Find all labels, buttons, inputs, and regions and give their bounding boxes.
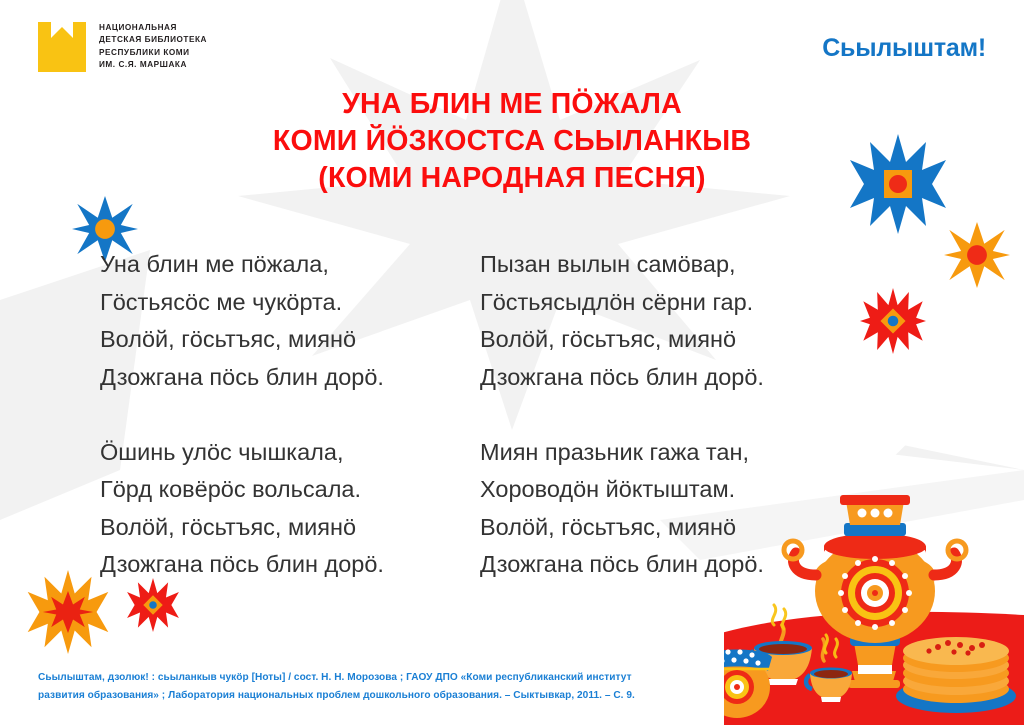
lyric-line: Волӧй, гӧсьтъяс, миянӧ (480, 321, 860, 359)
lyric-line: Дзожгана пӧсь блин дорӧ. (480, 546, 860, 584)
footer-line-1: Сьылыштам, дзолюк! : сьыланкыв чукӧр [Но… (38, 669, 635, 687)
brand-title: Сьылыштам! (822, 34, 986, 63)
footer-line-2: развития образования» ; Лаборатория наци… (38, 687, 635, 705)
tea-cup-large (749, 625, 812, 685)
lyrics-column-right: Пызан вылын самӧвар, Гӧстьясыдлӧн сёрни … (480, 246, 860, 584)
page-title: УНА БЛИН МЕ ПӦЖАЛА КОМИ ЙӦЗКОСТСА СЬЫЛАН… (0, 86, 1024, 197)
poster-page: НАЦИОНАЛЬНАЯ ДЕТСКАЯ БИБЛИОТЕКА РЕСПУБЛИ… (0, 0, 1024, 725)
tea-cup-small (806, 639, 852, 702)
lyric-line: Дзожгана пӧсь блин дорӧ. (100, 359, 480, 397)
lyric-line: Гӧстьясыдлӧн сёрни гар. (480, 284, 860, 322)
honey-pot (724, 649, 772, 718)
lyric-line: Пызан вылын самӧвар, (480, 246, 860, 284)
stanza: Ӧшинь улӧс чышкала, Гӧрд ковёрӧс вольсал… (100, 434, 480, 584)
lyrics-column-left: Уна блин ме пӧжала, Гӧстьясӧс ме чукӧрта… (100, 246, 480, 584)
lyrics-body: Уна блин ме пӧжала, Гӧстьясӧс ме чукӧрта… (0, 246, 1024, 584)
lyric-line: Волӧй, гӧсьтъяс, миянӧ (100, 321, 480, 359)
pancake-stack (896, 637, 1016, 713)
lyric-line: Хороводӧн йӧктыштам. (480, 471, 860, 509)
library-logo-text: НАЦИОНАЛЬНАЯ ДЕТСКАЯ БИБЛИОТЕКА РЕСПУБЛИ… (99, 23, 207, 71)
lyric-line: Уна блин ме пӧжала, (100, 246, 480, 284)
footer-citation: Сьылыштам, дзолюк! : сьыланкыв чукӧр [Но… (38, 669, 635, 705)
lyric-line: Дзожгана пӧсь блин дорӧ. (480, 359, 860, 397)
title-line-3: (КОМИ НАРОДНАЯ ПЕСНЯ) (0, 160, 1024, 197)
lyric-line: Дзожгана пӧсь блин дорӧ. (100, 546, 480, 584)
logo-line-1: НАЦИОНАЛЬНАЯ (99, 23, 207, 34)
logo-line-4: ИМ. С.Я. МАРШАКА (99, 60, 207, 71)
lyric-line: Гӧрд ковёрӧс вольсала. (100, 471, 480, 509)
library-logo: НАЦИОНАЛЬНАЯ ДЕТСКАЯ БИБЛИОТЕКА РЕСПУБЛИ… (38, 22, 207, 72)
stanza: Миян празьник гажа тан, Хороводӧн йӧктыш… (480, 434, 860, 584)
lyric-line: Гӧстьясӧс ме чукӧрта. (100, 284, 480, 322)
lyric-line: Волӧй, гӧсьтъяс, миянӧ (480, 509, 860, 547)
library-crown-logo-icon (38, 22, 86, 72)
lyric-line: Миян празьник гажа тан, (480, 434, 860, 472)
stanza: Пызан вылын самӧвар, Гӧстьясыдлӧн сёрни … (480, 246, 860, 396)
star-red-bottom (126, 578, 180, 632)
logo-line-2: ДЕТСКАЯ БИБЛИОТЕКА (99, 35, 207, 46)
stanza: Уна блин ме пӧжала, Гӧстьясӧс ме чукӧрта… (100, 246, 480, 396)
lyric-line: Ӧшинь улӧс чышкала, (100, 434, 480, 472)
lyric-line: Волӧй, гӧсьтъяс, миянӧ (100, 509, 480, 547)
title-line-2: КОМИ ЙӦЗКОСТСА СЬЫЛАНКЫВ (0, 123, 1024, 160)
title-line-1: УНА БЛИН МЕ ПӦЖАЛА (0, 86, 1024, 123)
logo-line-3: РЕСПУБЛИКИ КОМИ (99, 48, 207, 59)
